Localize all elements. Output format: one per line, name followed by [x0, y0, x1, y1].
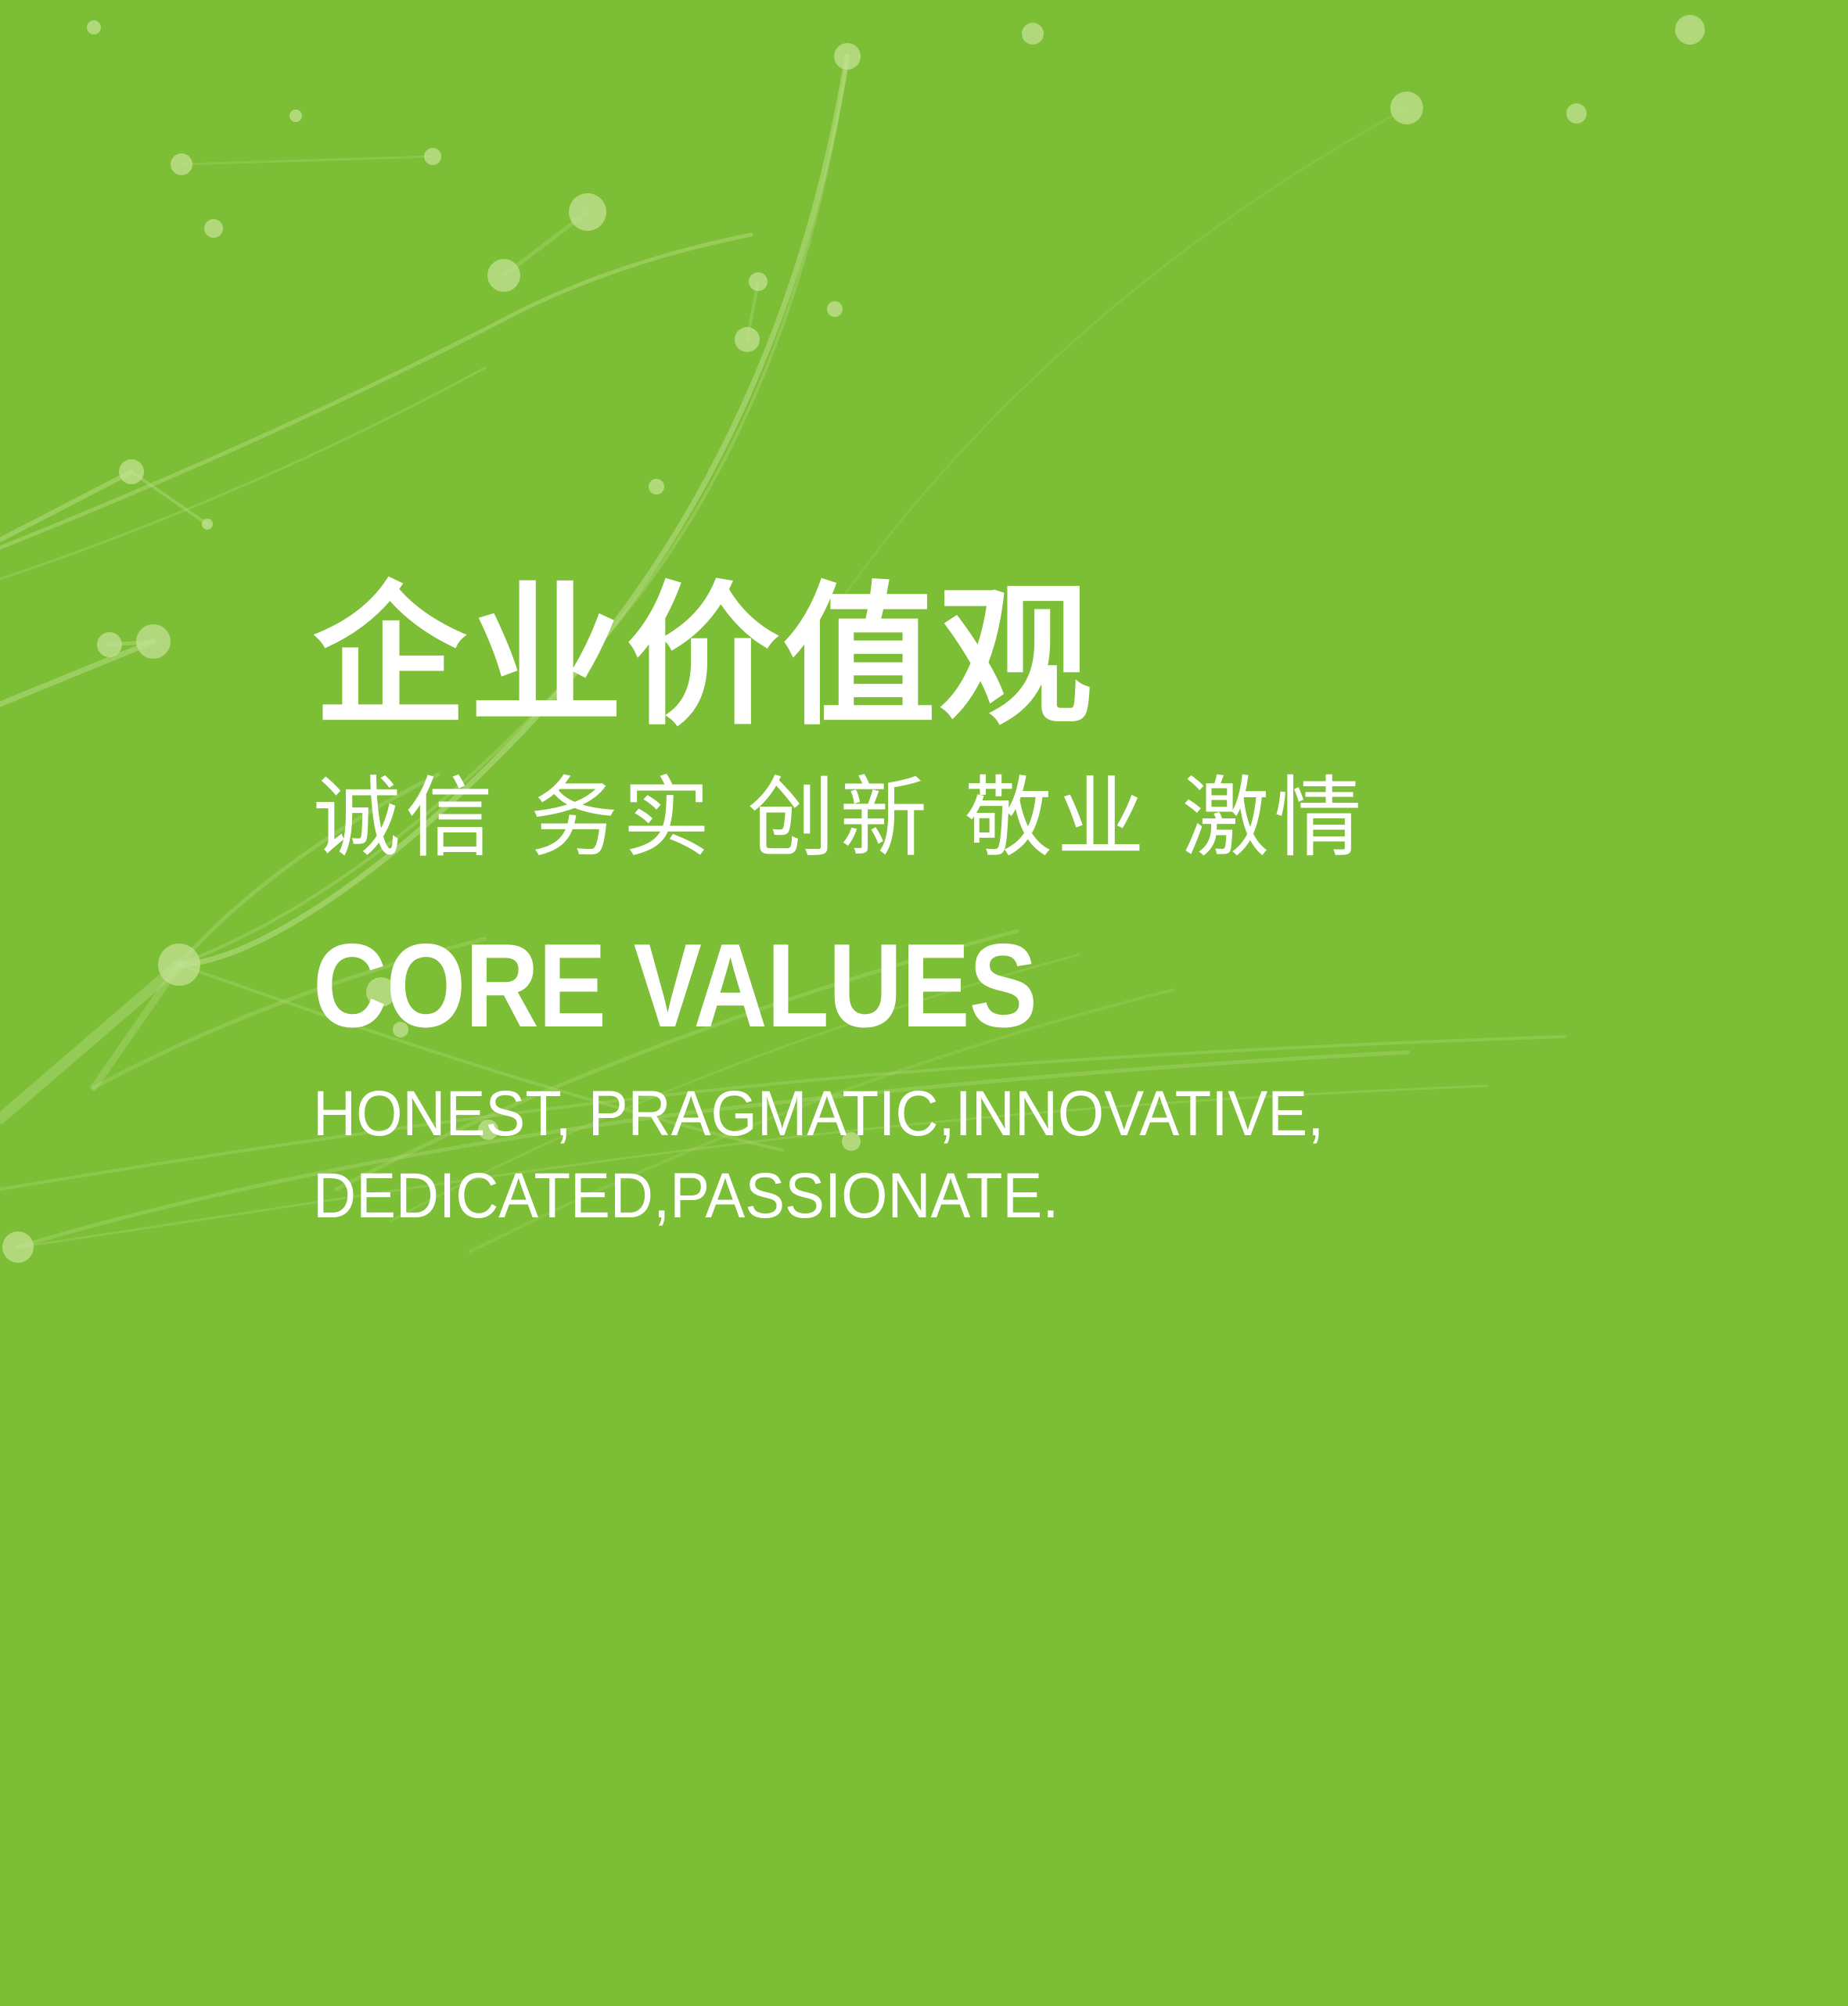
page-subtitle-chinese: 诚信 务实 创新 敬业 激情 — [313, 775, 1721, 862]
body-english-line-2: DEDICATED,PASSIONATE. — [313, 1156, 1623, 1238]
text-block: 企业价值观 诚信 务实 创新 敬业 激情 CORE VALUES HONEST,… — [313, 581, 1721, 1238]
page-title-english: CORE VALUES — [313, 926, 1524, 1045]
body-english-line-1: HONEST, PRAGMATIC,INNOVATIVE, — [313, 1073, 1623, 1156]
page-title-chinese: 企业价值观 — [313, 581, 1721, 734]
page-body-english: HONEST, PRAGMATIC,INNOVATIVE, DEDICATED,… — [313, 1073, 1623, 1238]
core-values-poster: 企业价值观 诚信 务实 创新 敬业 激情 CORE VALUES HONEST,… — [0, 0, 1848, 2006]
